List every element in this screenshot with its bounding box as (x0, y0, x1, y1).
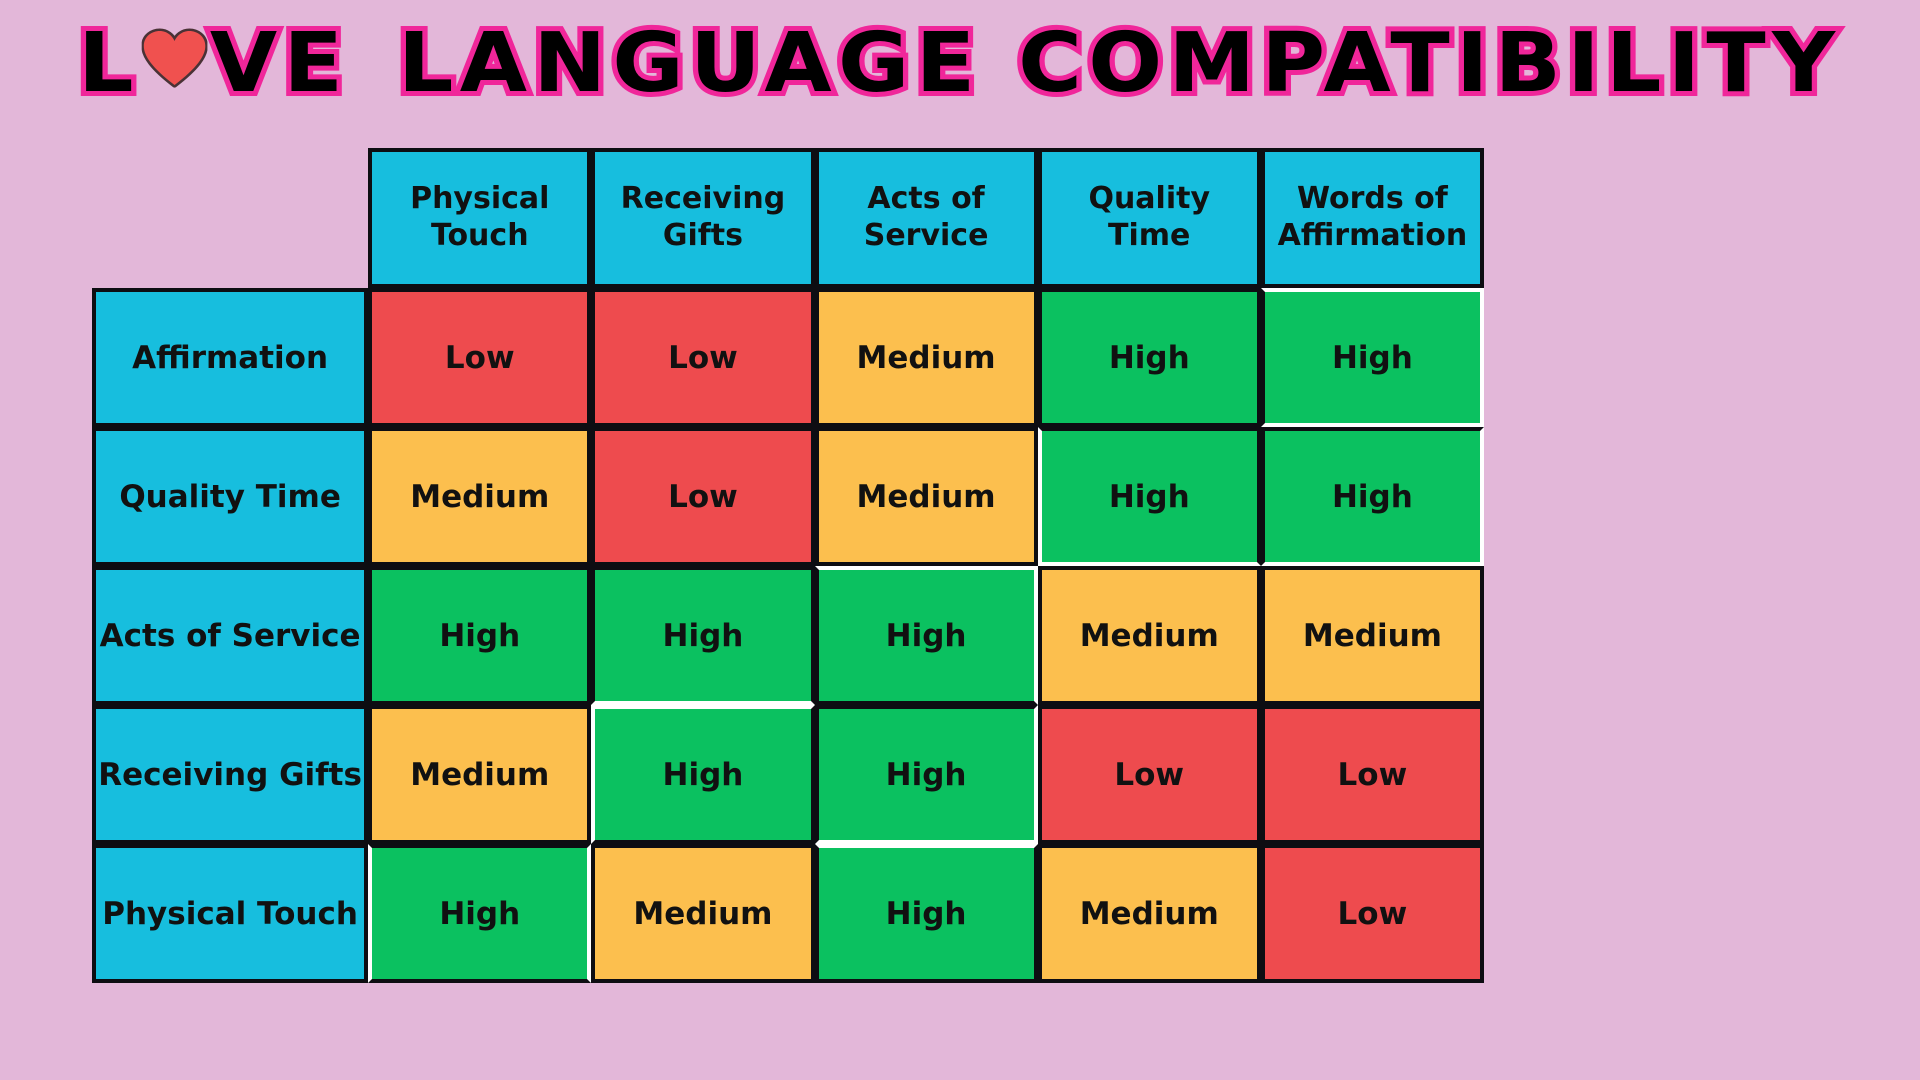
column-header-line2: Service (864, 218, 989, 253)
cell-acts-of-service-receiving-gifts: High (591, 566, 814, 705)
table-row: Affirmation Low Low Medium High High (92, 288, 1484, 427)
cell-physical-touch-acts-of-service: High (815, 844, 1038, 983)
cell-receiving-gifts-receiving-gifts: High (591, 705, 814, 844)
cell-receiving-gifts-quality-time: Low (1038, 705, 1261, 844)
title-part-rest: LANGUAGE COMPATIBILITY (398, 19, 1841, 109)
column-header-line2: Affirmation (1278, 218, 1468, 253)
column-header-line1: Physical (410, 181, 549, 216)
column-header-acts-of-service: Acts of Service (815, 148, 1038, 288)
cell-quality-time-words-of-affirmation: High (1261, 427, 1484, 566)
column-header-physical-touch: Physical Touch (368, 148, 591, 288)
cell-receiving-gifts-acts-of-service: High (815, 705, 1038, 844)
title-part-l: L (78, 19, 140, 109)
column-header-line1: Receiving (621, 181, 786, 216)
row-header-physical-touch: Physical Touch (92, 844, 368, 983)
page-title: LVELANGUAGE COMPATIBILITY (0, 14, 1920, 109)
title-text-group: LVELANGUAGE COMPATIBILITY (78, 14, 1841, 109)
table-row: Acts of Service High High High Medium Me… (92, 566, 1484, 705)
cell-quality-time-receiving-gifts: Low (591, 427, 814, 566)
table-row: Physical Touch High Medium High Medium L… (92, 844, 1484, 983)
title-part-ve: VE (210, 19, 349, 109)
cell-receiving-gifts-words-of-affirmation: Low (1261, 705, 1484, 844)
cell-affirmation-quality-time: High (1038, 288, 1261, 427)
cell-physical-touch-physical-touch: High (368, 844, 591, 983)
column-header-line2: Touch (431, 218, 529, 253)
cell-quality-time-acts-of-service: Medium (815, 427, 1038, 566)
column-header-receiving-gifts: Receiving Gifts (591, 148, 814, 288)
compatibility-matrix: Physical Touch Receiving Gifts Acts of S… (92, 148, 1484, 983)
corner-blank-cell (92, 148, 368, 288)
cell-affirmation-receiving-gifts: Low (591, 288, 814, 427)
table-row: Receiving Gifts Medium High High Low Low (92, 705, 1484, 844)
cell-quality-time-quality-time: High (1038, 427, 1261, 566)
cell-physical-touch-words-of-affirmation: Low (1261, 844, 1484, 983)
row-header-quality-time: Quality Time (92, 427, 368, 566)
column-header-line2: Gifts (663, 218, 743, 253)
cell-quality-time-physical-touch: Medium (368, 427, 591, 566)
column-header-line1: Words of (1297, 181, 1448, 216)
column-header-line2: Time (1108, 218, 1190, 253)
cell-acts-of-service-acts-of-service: High (815, 566, 1038, 705)
column-header-line1: Acts of (867, 181, 984, 216)
column-header-line1: Quality (1088, 181, 1210, 216)
cell-affirmation-words-of-affirmation: High (1261, 288, 1484, 427)
poster-canvas: LVELANGUAGE COMPATIBILITY Physical Touch… (0, 0, 1920, 1080)
cell-physical-touch-quality-time: Medium (1038, 844, 1261, 983)
cell-affirmation-acts-of-service: Medium (815, 288, 1038, 427)
row-header-acts-of-service: Acts of Service (92, 566, 368, 705)
column-header-quality-time: Quality Time (1038, 148, 1261, 288)
row-header-receiving-gifts: Receiving Gifts (92, 705, 368, 844)
cell-receiving-gifts-physical-touch: Medium (368, 705, 591, 844)
cell-acts-of-service-physical-touch: High (368, 566, 591, 705)
table-row: Quality Time Medium Low Medium High High (92, 427, 1484, 566)
cell-physical-touch-receiving-gifts: Medium (591, 844, 814, 983)
column-header-words-of-affirmation: Words of Affirmation (1261, 148, 1484, 288)
heart-icon (142, 28, 208, 90)
cell-acts-of-service-quality-time: Medium (1038, 566, 1261, 705)
row-header-affirmation: Affirmation (92, 288, 368, 427)
table-header-row: Physical Touch Receiving Gifts Acts of S… (92, 148, 1484, 288)
cell-acts-of-service-words-of-affirmation: Medium (1261, 566, 1484, 705)
cell-affirmation-physical-touch: Low (368, 288, 591, 427)
